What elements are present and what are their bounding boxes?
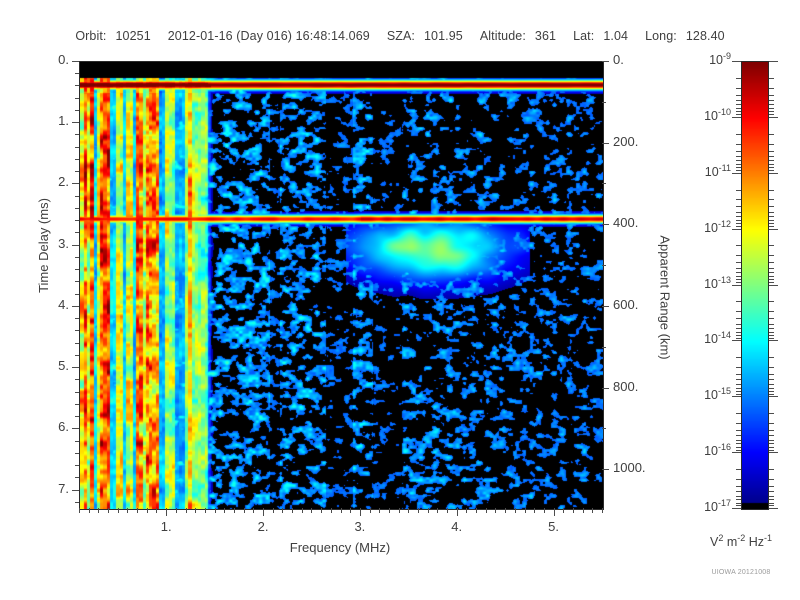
colorbar-minor-tick-right bbox=[769, 357, 774, 358]
x-minor-tick bbox=[89, 508, 90, 513]
colorbar-tick-label: 10-15 bbox=[679, 386, 731, 402]
long-label: Long: bbox=[645, 29, 677, 43]
colorbar-major-tick-left bbox=[732, 61, 741, 62]
colorbar-minor-tick-right bbox=[769, 505, 774, 506]
colorbar-minor-tick-right bbox=[769, 226, 774, 227]
x-minor-tick bbox=[292, 508, 293, 513]
lat-value: 1.04 bbox=[603, 29, 628, 43]
y-left-minor-tick bbox=[75, 330, 79, 331]
y-right-major-tick bbox=[602, 469, 609, 470]
colorbar-minor-tick-right bbox=[769, 469, 774, 470]
colorbar-minor-tick-right bbox=[769, 223, 774, 224]
colorbar-major-tick-right bbox=[769, 452, 778, 453]
colorbar-tick-label: 10-14 bbox=[679, 330, 731, 346]
x-minor-tick bbox=[321, 508, 322, 513]
colorbar-minor-tick-right bbox=[769, 479, 774, 480]
colorbar-minor-tick-right bbox=[769, 435, 774, 436]
x-minor-tick bbox=[573, 508, 574, 513]
colorbar-minor-tick-right bbox=[769, 338, 774, 339]
x-minor-tick bbox=[408, 508, 409, 513]
x-tick-label: 3. bbox=[338, 519, 382, 534]
colorbar-minor-tick-right bbox=[769, 108, 774, 109]
colorbar-minor-tick-right bbox=[769, 311, 774, 312]
colorbar-minor-tick-right bbox=[769, 447, 774, 448]
colorbar-minor-tick-right bbox=[769, 151, 774, 152]
colorbar-major-tick-left bbox=[732, 340, 741, 341]
colorbar-minor-tick-right bbox=[769, 104, 774, 105]
y-left-tick-label: 0. bbox=[33, 52, 69, 67]
credit-text: UIOWA 20121008 bbox=[686, 569, 796, 576]
ionogram-figure: Orbit:102512012-01-16 (Day 016) 16:48:14… bbox=[0, 0, 800, 600]
figure-header: Orbit:102512012-01-16 (Day 016) 16:48:14… bbox=[0, 29, 800, 43]
colorbar-minor-tick-right bbox=[769, 282, 774, 283]
y-left-minor-tick bbox=[75, 269, 79, 270]
y-left-minor-tick bbox=[75, 465, 79, 466]
colorbar-minor-tick-right bbox=[769, 279, 774, 280]
colorbar-major-tick-left bbox=[732, 396, 741, 397]
x-minor-tick bbox=[98, 508, 99, 513]
x-major-tick bbox=[263, 508, 264, 516]
x-minor-tick bbox=[273, 508, 274, 513]
x-minor-tick bbox=[234, 508, 235, 513]
colorbar-minor-tick-right bbox=[769, 394, 774, 395]
y-right-major-tick bbox=[602, 143, 609, 144]
colorbar-minor-tick-right bbox=[769, 100, 774, 101]
x-minor-tick bbox=[79, 508, 80, 513]
altitude-label: Altitude: bbox=[480, 29, 526, 43]
colorbar-tick-label: 10-10 bbox=[679, 107, 731, 123]
y-left-minor-tick bbox=[75, 98, 79, 99]
x-tick-label: 2. bbox=[241, 519, 285, 534]
y-left-minor-tick bbox=[75, 147, 79, 148]
colorbar-minor-tick-right bbox=[769, 220, 774, 221]
y-left-minor-tick bbox=[75, 220, 79, 221]
x-minor-tick bbox=[486, 508, 487, 513]
colorbar-minor-tick-right bbox=[769, 374, 774, 375]
y-left-minor-tick bbox=[75, 110, 79, 111]
x-minor-tick bbox=[244, 508, 245, 513]
colorbar-minor-tick-right bbox=[769, 167, 774, 168]
x-minor-tick bbox=[302, 508, 303, 513]
spectrogram-canvas bbox=[80, 62, 603, 509]
y-left-minor-tick bbox=[75, 416, 79, 417]
y-left-minor-tick bbox=[75, 281, 79, 282]
colorbar-major-tick-right bbox=[769, 117, 778, 118]
y-axis-right-label: Apparent Range (km) bbox=[658, 235, 673, 359]
colorbar-minor-tick-right bbox=[769, 499, 774, 500]
y-axis-left-label: Time Delay (ms) bbox=[36, 198, 51, 293]
y-left-minor-tick bbox=[75, 294, 79, 295]
colorbar-minor-tick-right bbox=[769, 95, 774, 96]
x-minor-tick bbox=[156, 508, 157, 513]
y-left-minor-tick bbox=[75, 85, 79, 86]
colorbar-minor-tick-right bbox=[769, 486, 774, 487]
y-right-minor-tick bbox=[602, 102, 606, 103]
x-minor-tick bbox=[331, 508, 332, 513]
y-right-minor-tick bbox=[602, 347, 606, 348]
colorbar-minor-tick-right bbox=[769, 190, 774, 191]
colorbar-major-tick-right bbox=[769, 285, 778, 286]
y-left-minor-tick bbox=[75, 404, 79, 405]
colorbar-major-tick-left bbox=[732, 229, 741, 230]
orbit-label: Orbit: bbox=[75, 29, 106, 43]
x-minor-tick bbox=[515, 508, 516, 513]
y-left-major-tick bbox=[72, 183, 79, 184]
x-minor-tick bbox=[127, 508, 128, 513]
x-minor-tick bbox=[253, 508, 254, 513]
colorbar-minor-tick-right bbox=[769, 206, 774, 207]
colorbar-major-tick-right bbox=[769, 229, 778, 230]
colorbar-minor-tick-right bbox=[769, 301, 774, 302]
colorbar-minor-tick-right bbox=[769, 391, 774, 392]
y-left-minor-tick bbox=[75, 73, 79, 74]
x-minor-tick bbox=[399, 508, 400, 513]
altitude-value: 361 bbox=[535, 29, 556, 43]
y-left-major-tick bbox=[72, 245, 79, 246]
colorbar-major-tick-right bbox=[769, 340, 778, 341]
x-minor-tick bbox=[176, 508, 177, 513]
colorbar-minor-tick-right bbox=[769, 164, 774, 165]
x-minor-tick bbox=[108, 508, 109, 513]
x-minor-tick bbox=[563, 508, 564, 513]
colorbar-minor-tick-right bbox=[769, 160, 774, 161]
x-minor-tick bbox=[137, 508, 138, 513]
colorbar-minor-tick-right bbox=[769, 324, 774, 325]
x-minor-tick bbox=[311, 508, 312, 513]
x-minor-tick bbox=[341, 508, 342, 513]
x-minor-tick bbox=[476, 508, 477, 513]
x-minor-tick bbox=[195, 508, 196, 513]
x-minor-tick bbox=[350, 508, 351, 513]
y-left-major-tick bbox=[72, 490, 79, 491]
colorbar-minor-tick-right bbox=[769, 199, 774, 200]
x-minor-tick bbox=[437, 508, 438, 513]
y-left-minor-tick bbox=[75, 232, 79, 233]
colorbar-minor-tick-right bbox=[769, 318, 774, 319]
colorbar-tick-label: 10-17 bbox=[679, 498, 731, 514]
colorbar-minor-tick-right bbox=[769, 443, 774, 444]
colorbar-minor-tick-right bbox=[769, 134, 774, 135]
x-minor-tick bbox=[215, 508, 216, 513]
y-left-tick-label: 7. bbox=[33, 481, 69, 496]
y-left-major-tick bbox=[72, 122, 79, 123]
x-minor-tick bbox=[428, 508, 429, 513]
x-minor-tick bbox=[495, 508, 496, 513]
colorbar-minor-tick-right bbox=[769, 114, 774, 115]
y-left-minor-tick bbox=[75, 355, 79, 356]
x-minor-tick bbox=[389, 508, 390, 513]
y-right-major-tick bbox=[602, 306, 609, 307]
y-right-tick-label: 1000. bbox=[613, 460, 661, 475]
y-left-minor-tick bbox=[75, 453, 79, 454]
x-major-tick bbox=[457, 508, 458, 516]
y-left-minor-tick bbox=[75, 441, 79, 442]
y-right-minor-tick bbox=[602, 265, 606, 266]
colorbar bbox=[741, 61, 769, 510]
unit-hertz-exp: -1 bbox=[764, 533, 772, 543]
x-minor-tick bbox=[118, 508, 119, 513]
x-minor-tick bbox=[505, 508, 506, 513]
y-right-major-tick bbox=[602, 224, 609, 225]
colorbar-minor-tick-right bbox=[769, 111, 774, 112]
y-left-tick-label: 1. bbox=[33, 113, 69, 128]
colorbar-minor-tick-right bbox=[769, 413, 774, 414]
colorbar-minor-tick-right bbox=[769, 328, 774, 329]
y-right-tick-label: 400. bbox=[613, 215, 661, 230]
colorbar-minor-tick-right bbox=[769, 491, 774, 492]
x-minor-tick bbox=[583, 508, 584, 513]
x-tick-label: 4. bbox=[435, 519, 479, 534]
colorbar-major-tick-right bbox=[769, 508, 778, 509]
y-left-minor-tick bbox=[75, 392, 79, 393]
y-left-minor-tick bbox=[75, 171, 79, 172]
colorbar-minor-tick-right bbox=[769, 268, 774, 269]
colorbar-minor-tick-right bbox=[769, 88, 774, 89]
colorbar-unit-label: V2 m-2 Hz-1 bbox=[686, 533, 796, 549]
y-left-minor-tick bbox=[75, 159, 79, 160]
y-left-major-tick bbox=[72, 367, 79, 368]
colorbar-minor-tick-right bbox=[769, 503, 774, 504]
colorbar-major-tick-right bbox=[769, 173, 778, 174]
colorbar-minor-tick-right bbox=[769, 245, 774, 246]
y-left-minor-tick bbox=[75, 379, 79, 380]
y-left-minor-tick bbox=[75, 477, 79, 478]
x-minor-tick bbox=[379, 508, 380, 513]
colorbar-gradient bbox=[742, 62, 768, 509]
sza-value: 101.95 bbox=[424, 29, 463, 43]
colorbar-minor-tick-right bbox=[769, 379, 774, 380]
x-minor-tick bbox=[147, 508, 148, 513]
x-minor-tick bbox=[602, 508, 603, 513]
colorbar-major-tick-right bbox=[769, 61, 778, 62]
colorbar-minor-tick-right bbox=[769, 367, 774, 368]
colorbar-minor-tick-right bbox=[769, 156, 774, 157]
colorbar-minor-tick-right bbox=[769, 272, 774, 273]
colorbar-minor-tick-right bbox=[769, 388, 774, 389]
lat-label: Lat: bbox=[573, 29, 594, 43]
y-left-major-tick bbox=[72, 61, 79, 62]
x-minor-tick bbox=[447, 508, 448, 513]
y-right-minor-tick bbox=[602, 183, 606, 184]
colorbar-minor-tick-right bbox=[769, 216, 774, 217]
y-left-tick-label: 6. bbox=[33, 419, 69, 434]
colorbar-minor-tick-right bbox=[769, 440, 774, 441]
y-right-minor-tick bbox=[602, 428, 606, 429]
colorbar-major-tick-left bbox=[732, 452, 741, 453]
y-left-major-tick bbox=[72, 306, 79, 307]
y-left-tick-label: 4. bbox=[33, 297, 69, 312]
x-minor-tick bbox=[186, 508, 187, 513]
y-right-tick-label: 800. bbox=[613, 379, 661, 394]
colorbar-minor-tick-right bbox=[769, 496, 774, 497]
orbit-value: 10251 bbox=[115, 29, 150, 43]
colorbar-minor-tick-right bbox=[769, 335, 774, 336]
x-minor-tick bbox=[466, 508, 467, 513]
colorbar-minor-tick-right bbox=[769, 170, 774, 171]
colorbar-minor-tick-right bbox=[769, 332, 774, 333]
colorbar-minor-tick-right bbox=[769, 78, 774, 79]
x-minor-tick bbox=[370, 508, 371, 513]
x-major-tick bbox=[166, 508, 167, 516]
colorbar-minor-tick-right bbox=[769, 276, 774, 277]
colorbar-major-tick-left bbox=[732, 285, 741, 286]
colorbar-major-tick-right bbox=[769, 396, 778, 397]
x-tick-label: 5. bbox=[532, 519, 576, 534]
y-left-minor-tick bbox=[75, 134, 79, 135]
long-value: 128.40 bbox=[686, 29, 725, 43]
y-left-tick-label: 2. bbox=[33, 174, 69, 189]
y-right-tick-label: 200. bbox=[613, 134, 661, 149]
sza-label: SZA: bbox=[387, 29, 415, 43]
x-minor-tick bbox=[418, 508, 419, 513]
colorbar-minor-tick-right bbox=[769, 430, 774, 431]
x-minor-tick bbox=[282, 508, 283, 513]
y-left-minor-tick bbox=[75, 343, 79, 344]
colorbar-major-tick-left bbox=[732, 508, 741, 509]
colorbar-minor-tick-right bbox=[769, 423, 774, 424]
x-major-tick bbox=[554, 508, 555, 516]
colorbar-minor-tick-right bbox=[769, 255, 774, 256]
y-left-tick-label: 5. bbox=[33, 358, 69, 373]
colorbar-tick-label: 10-13 bbox=[679, 275, 731, 291]
colorbar-minor-tick-right bbox=[769, 450, 774, 451]
x-minor-tick bbox=[224, 508, 225, 513]
y-right-major-tick bbox=[602, 388, 609, 389]
colorbar-tick-label: 10-12 bbox=[679, 219, 731, 235]
y-right-tick-label: 600. bbox=[613, 297, 661, 312]
colorbar-minor-tick-right bbox=[769, 384, 774, 385]
unit-meter: m bbox=[723, 535, 737, 549]
colorbar-tick-label: 10-16 bbox=[679, 442, 731, 458]
y-left-minor-tick bbox=[75, 318, 79, 319]
colorbar-tick-label: 10-11 bbox=[679, 163, 731, 179]
colorbar-minor-tick-right bbox=[769, 144, 774, 145]
observation-datetime: 2012-01-16 (Day 016) 16:48:14.069 bbox=[168, 29, 370, 43]
colorbar-major-tick-left bbox=[732, 173, 741, 174]
y-left-minor-tick bbox=[75, 257, 79, 258]
colorbar-major-tick-left bbox=[732, 117, 741, 118]
x-minor-tick bbox=[544, 508, 545, 513]
colorbar-minor-tick-right bbox=[769, 262, 774, 263]
x-minor-tick bbox=[525, 508, 526, 513]
y-left-minor-tick bbox=[75, 208, 79, 209]
unit-hertz: Hz bbox=[745, 535, 764, 549]
y-right-tick-label: 0. bbox=[613, 52, 661, 67]
colorbar-minor-tick-right bbox=[769, 212, 774, 213]
x-minor-tick bbox=[534, 508, 535, 513]
y-left-minor-tick bbox=[75, 502, 79, 503]
y-left-minor-tick bbox=[75, 196, 79, 197]
spectrogram-plot-area bbox=[79, 61, 604, 510]
y-right-major-tick bbox=[602, 61, 609, 62]
colorbar-tick-label: 10-9 bbox=[679, 51, 731, 67]
x-major-tick bbox=[360, 508, 361, 516]
y-left-major-tick bbox=[72, 428, 79, 429]
x-axis-label: Frequency (MHz) bbox=[0, 540, 680, 555]
x-minor-tick bbox=[592, 508, 593, 513]
x-tick-label: 1. bbox=[144, 519, 188, 534]
x-minor-tick bbox=[205, 508, 206, 513]
